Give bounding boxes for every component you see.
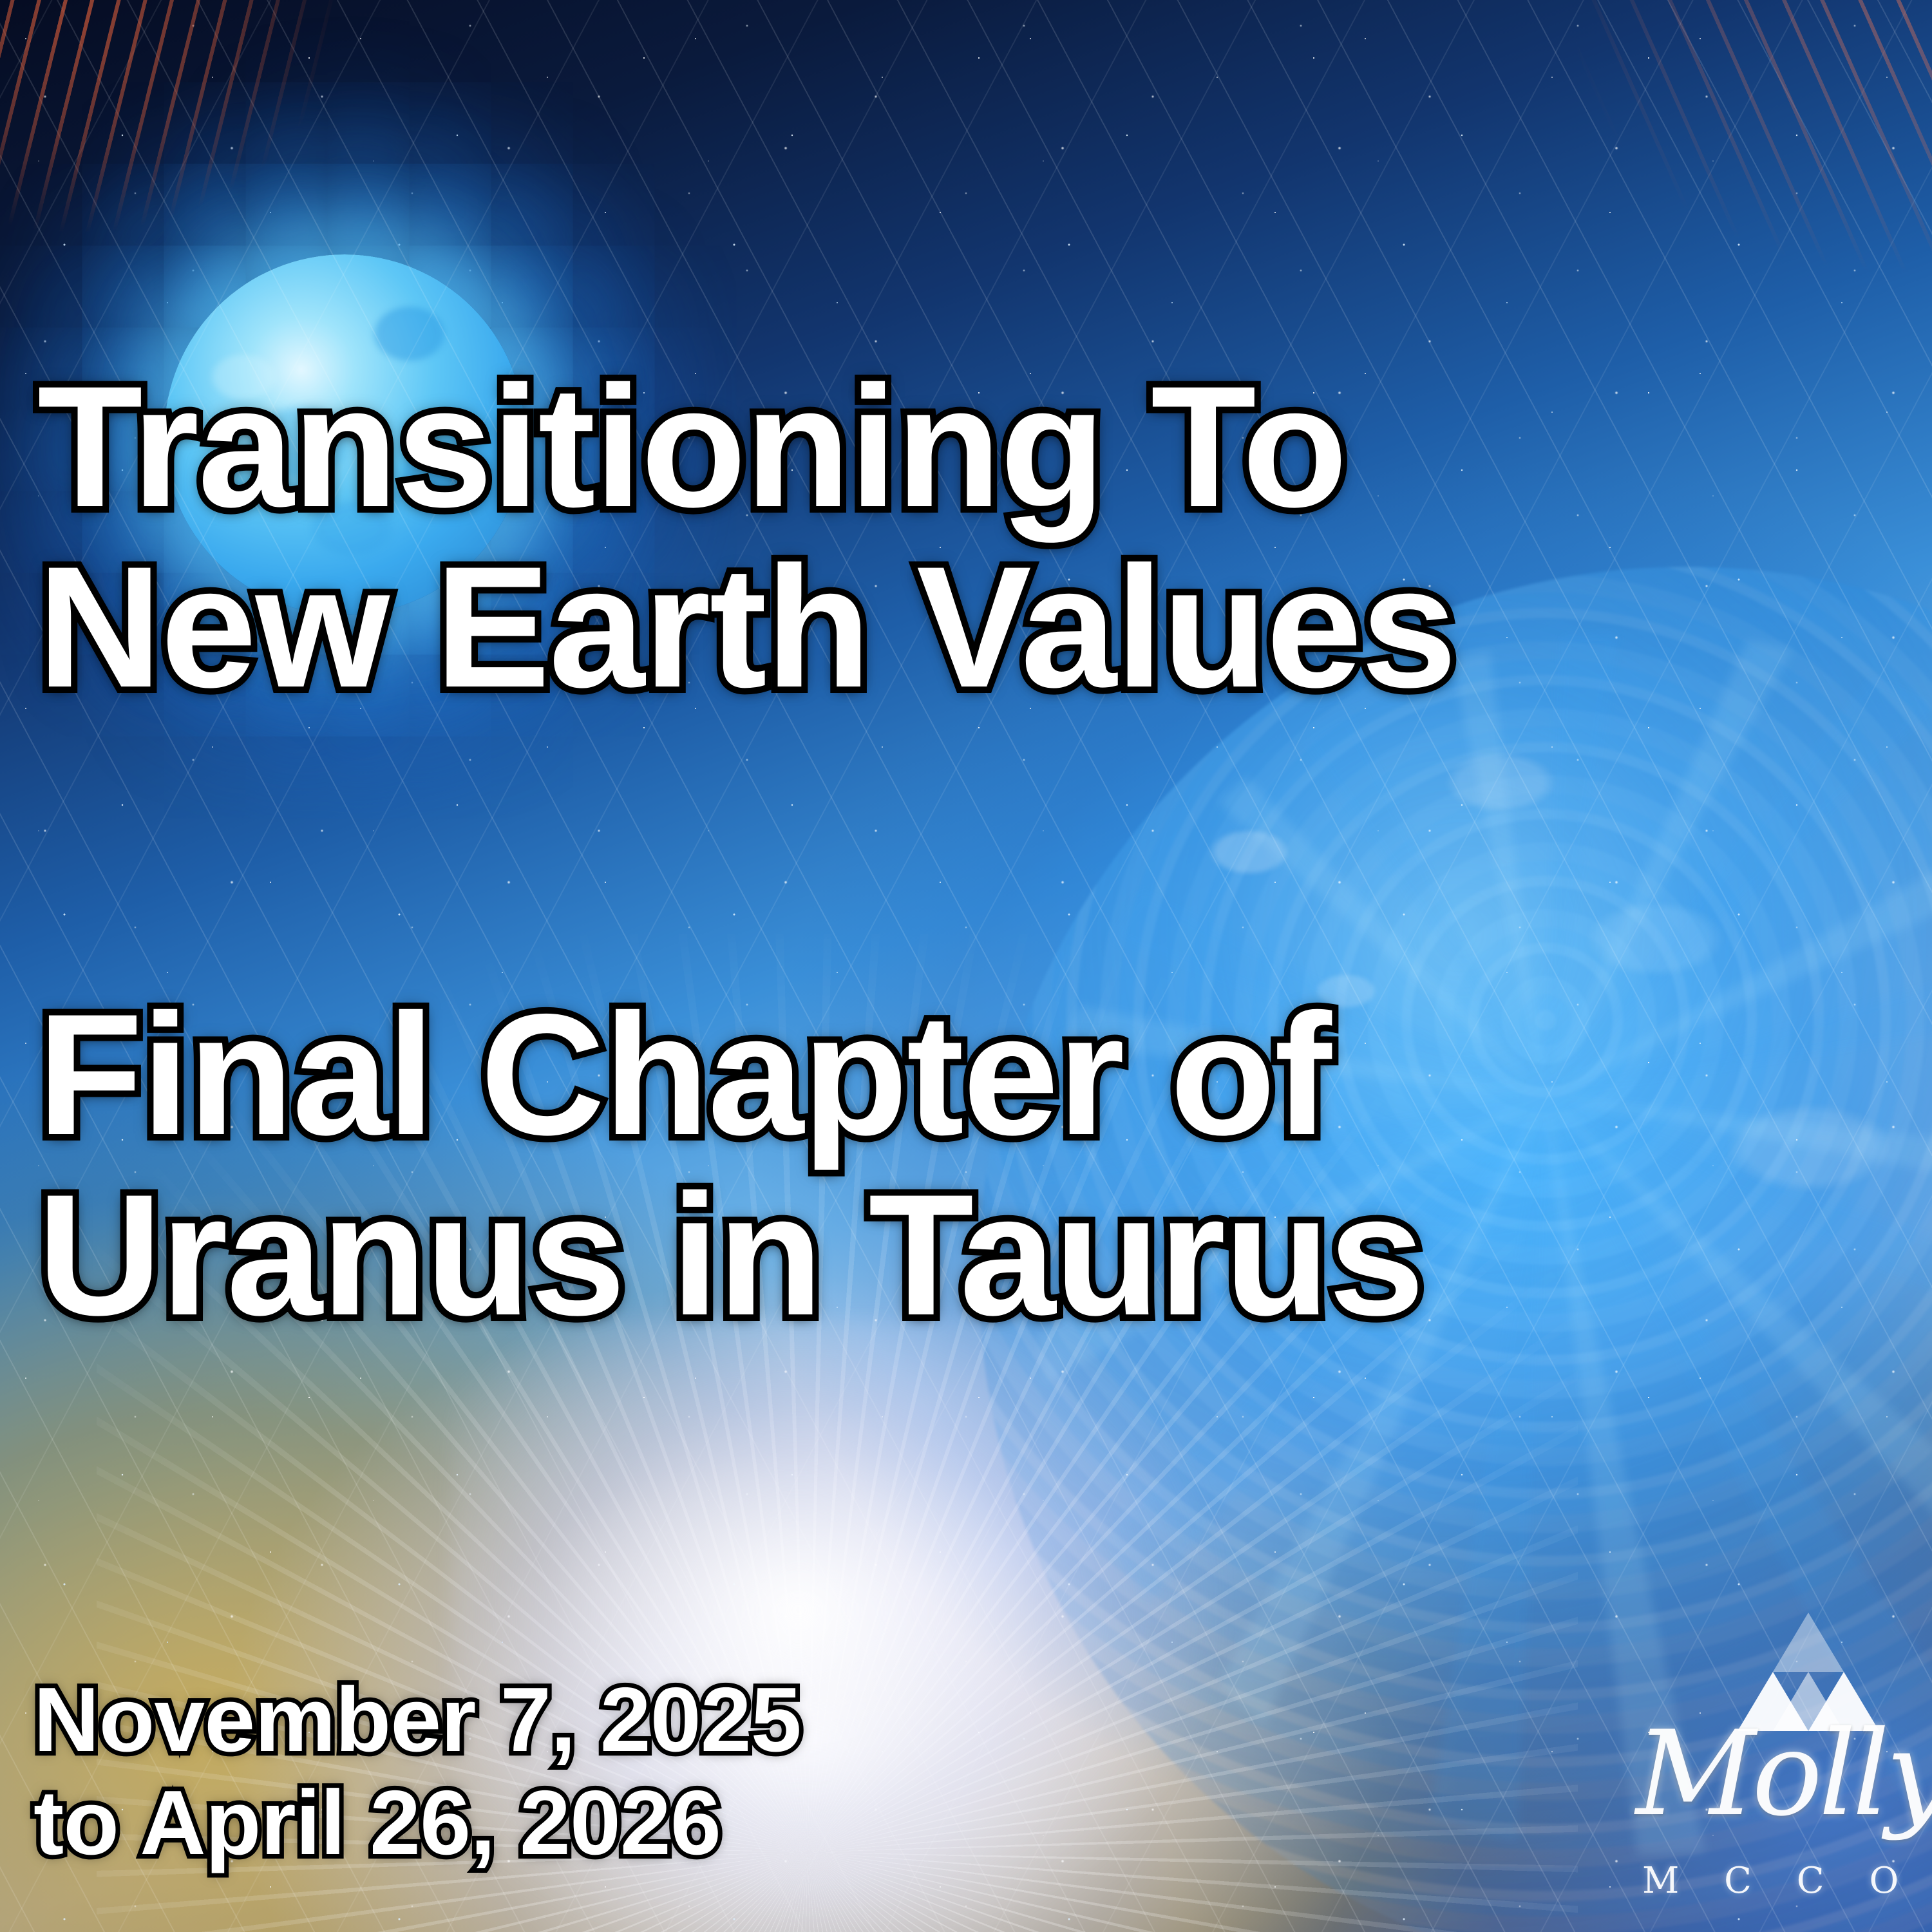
brand-surname: M C C O R D bbox=[1642, 1860, 1932, 1902]
brand-script-name: Molly bbox=[1636, 1715, 1932, 1832]
subtitle-line-1: Final Chapter of bbox=[37, 992, 1331, 1157]
brand-logo: Molly M C C O R D bbox=[1616, 1602, 1932, 1924]
title-line-1: Transitioning To bbox=[37, 364, 1346, 529]
poster-canvas: Transitioning To New Earth Values Final … bbox=[0, 0, 1932, 1932]
title-line-2: New Earth Values bbox=[37, 544, 1455, 710]
date-range-end: to April 26, 2026 bbox=[33, 1777, 721, 1869]
poster-content: Transitioning To New Earth Values Final … bbox=[0, 0, 1932, 1932]
subtitle-line-2: Uranus in Taurus bbox=[37, 1172, 1423, 1338]
date-range-start: November 7, 2025 bbox=[33, 1674, 801, 1766]
